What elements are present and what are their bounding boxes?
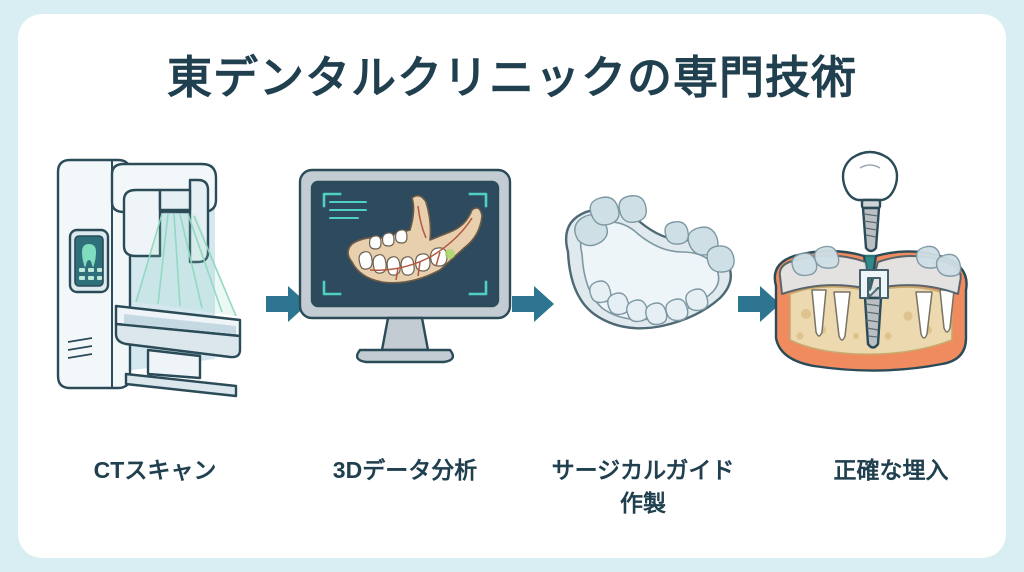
monitor-jaw-scan-icon	[290, 144, 520, 394]
step-4-label: 正確な埋入	[766, 454, 1016, 487]
step-3-label-line-1: サージカルガイド	[552, 457, 735, 483]
step-2-illustration	[290, 144, 520, 394]
step-1-label: CTスキャン	[30, 454, 280, 487]
infographic-card: 東デンタルクリニックの専門技術	[18, 14, 1006, 558]
page-title: 東デンタルクリニックの専門技術	[18, 52, 1006, 104]
implant-placement-icon	[760, 144, 990, 394]
step-2-label: 3Dデータ分析	[280, 454, 530, 487]
step-3-illustration	[530, 144, 760, 394]
step-1-illustration	[40, 144, 270, 394]
surgical-guide-icon	[530, 144, 760, 394]
step-4-illustration	[760, 144, 990, 394]
step-3-label-line-2: 作製	[620, 490, 666, 516]
ct-scanner-icon	[40, 144, 270, 394]
step-3-label: サージカルガイド 作製	[518, 454, 768, 521]
